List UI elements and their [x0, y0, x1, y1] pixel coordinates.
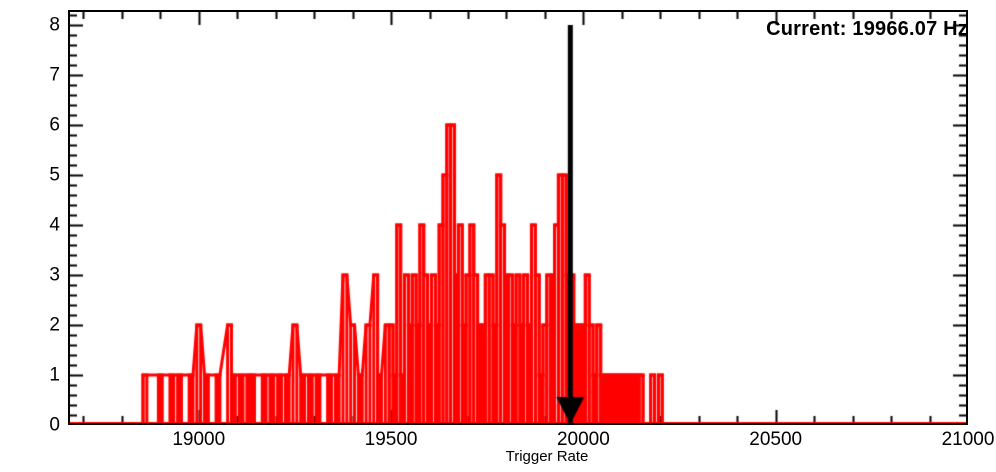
y-tick-label-4: 4: [49, 216, 60, 235]
x-tick-label-19000: 19000: [172, 430, 225, 449]
y-tick-label-3: 3: [49, 266, 60, 285]
y-tick-label-1: 1: [49, 366, 60, 385]
y-tick-label-7: 7: [49, 66, 60, 85]
y-tick-label-2: 2: [49, 316, 60, 335]
y-axis-tick-labels: 012345678: [30, 10, 60, 425]
chart-root: Current: 19966.07 Hz 012345678 190001950…: [0, 0, 996, 472]
x-tick-label-19500: 19500: [365, 430, 418, 449]
frame-right-edge: [966, 10, 968, 425]
frame-left-edge: [68, 10, 70, 425]
x-axis-title-text: Trigger Rate: [506, 448, 589, 465]
y-tick-label-8: 8: [49, 16, 60, 35]
frame-top-edge: [68, 10, 968, 12]
plot-area: [68, 10, 968, 425]
x-tick-label-20500: 20500: [749, 430, 802, 449]
x-axis-title: Trigger Rate: [0, 448, 996, 465]
frame-bottom-edge: [68, 423, 968, 425]
x-tick-label-21000: 21000: [942, 430, 995, 449]
y-tick-label-6: 6: [49, 116, 60, 135]
histogram-canvas: [68, 10, 968, 425]
y-tick-label-5: 5: [49, 166, 60, 185]
x-tick-label-20000: 20000: [557, 430, 610, 449]
